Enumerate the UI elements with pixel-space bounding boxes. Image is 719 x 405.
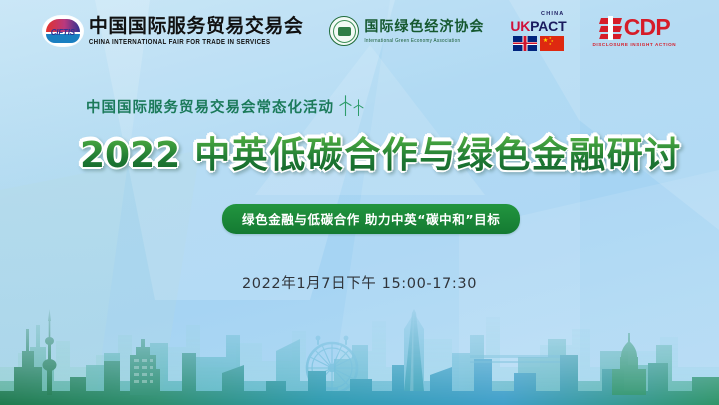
china-flag-icon: ★★★★ <box>540 36 564 51</box>
igea-name-cn: 国际绿色经济协会 <box>364 20 484 35</box>
event-title-main: 中英低碳合作与绿色金融研讨会 <box>194 135 719 176</box>
event-title: 2022 中英低碳合作与绿色金融研讨会 <box>80 126 680 178</box>
wind-turbine-icon <box>339 95 364 116</box>
ciftis-name-cn: 中国国际服务贸易交易会 <box>89 17 304 36</box>
event-datetime: 2022年1月7日下午 15:00-17:30 <box>0 272 719 293</box>
event-title-year: 2022 <box>80 135 180 176</box>
uk-pact-china-label: CHINA <box>541 11 564 17</box>
cdp-wordmark: CDP <box>624 16 670 39</box>
logo-ciftis: CIFTIS 中国国际服务贸易交易会 CHINA INTERNATIONAL F… <box>43 16 304 46</box>
igea-seal-icon <box>329 16 359 46</box>
kicker-label: 中国国际服务贸易交易会常态化活动 <box>86 96 334 117</box>
logo-uk-pact: CHINA UKPACT ★★★★ <box>510 11 566 51</box>
event-poster: CIFTIS 中国国际服务贸易交易会 CHINA INTERNATIONAL F… <box>0 0 719 405</box>
igea-name-en: International Green Economy Association <box>364 37 484 43</box>
logo-igea: 国际绿色经济协会 International Green Economy Ass… <box>329 16 484 46</box>
cdp-logo-icon <box>599 16 623 40</box>
event-subtitle-pill: 绿色金融与低碳合作 助力中英“碳中和”目标 <box>222 204 520 234</box>
sponsor-logo-bar: CIFTIS 中国国际服务贸易交易会 CHINA INTERNATIONAL F… <box>0 0 719 62</box>
cdp-tagline: DISCLOSURE INSIGHT ACTION <box>592 42 676 47</box>
uk-flag-icon <box>513 36 537 51</box>
city-skyline-silhouette <box>0 295 719 405</box>
logo-cdp: CDP DISCLOSURE INSIGHT ACTION <box>592 16 676 47</box>
ciftis-name-en: CHINA INTERNATIONAL FAIR FOR TRADE IN SE… <box>89 38 304 46</box>
uk-pact-word-uk: UK <box>510 18 530 34</box>
ciftis-logo-icon: CIFTIS <box>43 16 83 46</box>
event-kicker: 中国国际服务贸易交易会常态化活动 <box>86 95 364 117</box>
ciftis-wordmark: CIFTIS <box>51 28 75 37</box>
uk-pact-word-pact: PACT <box>530 18 566 34</box>
